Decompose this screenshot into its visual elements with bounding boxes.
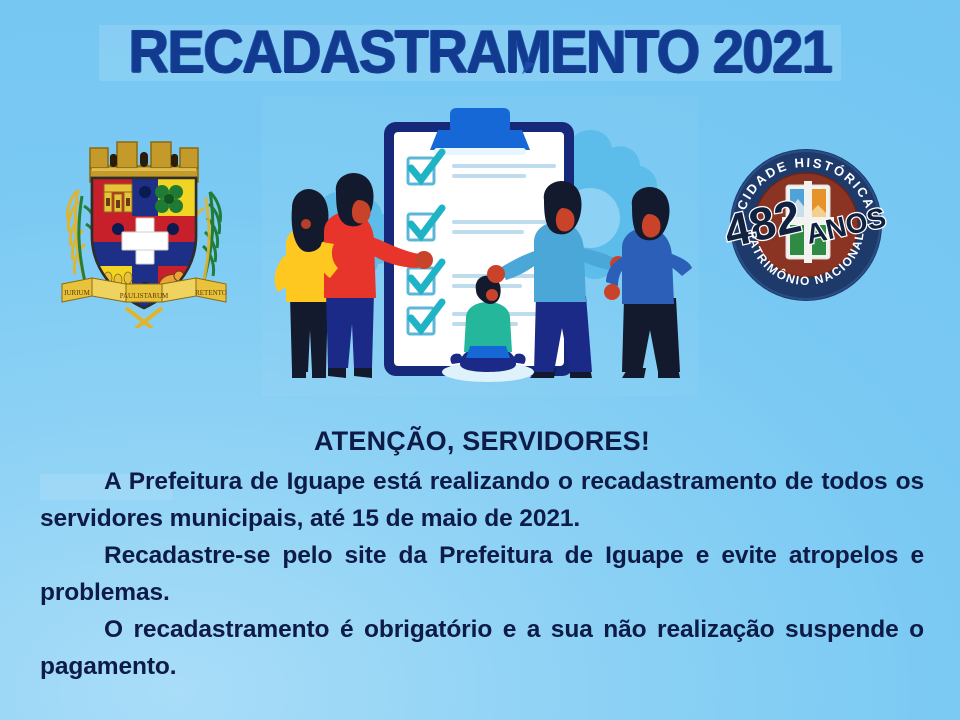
- anniversary-seal-icon: 482 ANOS CIDADE HISTÓRICA PATRIMÔNIO NAC…: [716, 135, 896, 315]
- poster-canvas: RECADASTRAMENTO 2021: [0, 0, 960, 720]
- page-title: RECADASTRAMENTO 2021: [34, 22, 927, 82]
- message-paragraph-1: A Prefeitura de Iguape está realizando o…: [40, 463, 924, 537]
- message-title: ATENÇÃO, SERVIDORES!: [40, 424, 924, 458]
- motto-word-3: RETENTO: [195, 289, 227, 297]
- coat-of-arms-icon: IURIUM PAULISTARUM RETENTO: [48, 132, 240, 328]
- motto-word-1: IURIUM: [64, 289, 90, 297]
- checklist-clipboard-icon: [262, 96, 698, 396]
- motto-word-2: PAULISTARUM: [120, 292, 169, 300]
- message-paragraph-2: Recadastre-se pelo site da Prefeitura de…: [40, 537, 924, 611]
- message-paragraph-3: O recadastramento é obrigatório e a sua …: [40, 611, 924, 685]
- message-block: ATENÇÃO, SERVIDORES! A Prefeitura de Igu…: [40, 424, 924, 685]
